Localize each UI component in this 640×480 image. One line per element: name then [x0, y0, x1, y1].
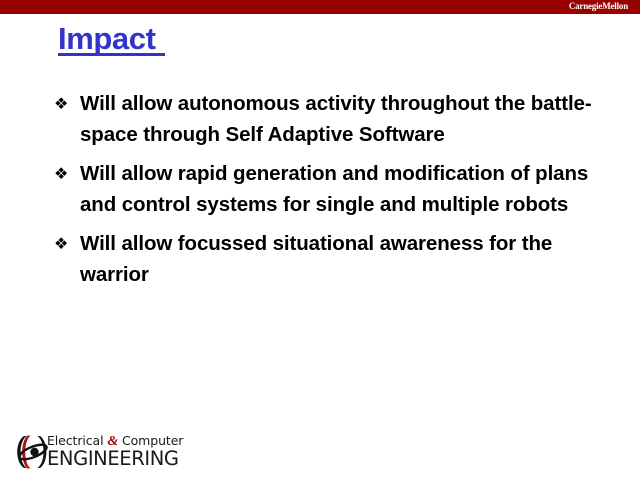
bullet-list: ❖ Will allow autonomous activity through… — [54, 88, 620, 298]
diamond-bullet-icon: ❖ — [54, 228, 74, 259]
presentation-slide: CarnegieMellon Impact ❖ Will allow auton… — [0, 0, 640, 480]
ece-line1-suffix: Computer — [118, 433, 183, 448]
page-title-underline — [58, 53, 165, 56]
ece-swoosh-mark-icon — [14, 433, 48, 471]
diamond-bullet-icon: ❖ — [54, 88, 74, 119]
ece-wordmark: Electrical & Computer ENGINEERING — [47, 433, 189, 473]
list-item-text: Will allow rapid generation and modifica… — [80, 158, 620, 220]
list-item-text: Will allow focussed situational awarenes… — [80, 228, 620, 290]
list-item-text: Will allow autonomous activity throughou… — [80, 88, 620, 150]
page-title: Impact — [58, 22, 156, 56]
ece-line1-prefix: Electrical — [47, 433, 107, 448]
ece-logo: Electrical & Computer ENGINEERING — [14, 430, 189, 474]
list-item: ❖ Will allow focussed situational awaren… — [54, 228, 620, 290]
carnegie-mellon-wordmark: CarnegieMellon — [569, 0, 628, 14]
ece-wordmark-line2: ENGINEERING — [47, 448, 189, 469]
top-banner: CarnegieMellon — [0, 0, 640, 14]
list-item: ❖ Will allow autonomous activity through… — [54, 88, 620, 150]
list-item: ❖ Will allow rapid generation and modifi… — [54, 158, 620, 220]
diamond-bullet-icon: ❖ — [54, 158, 74, 189]
